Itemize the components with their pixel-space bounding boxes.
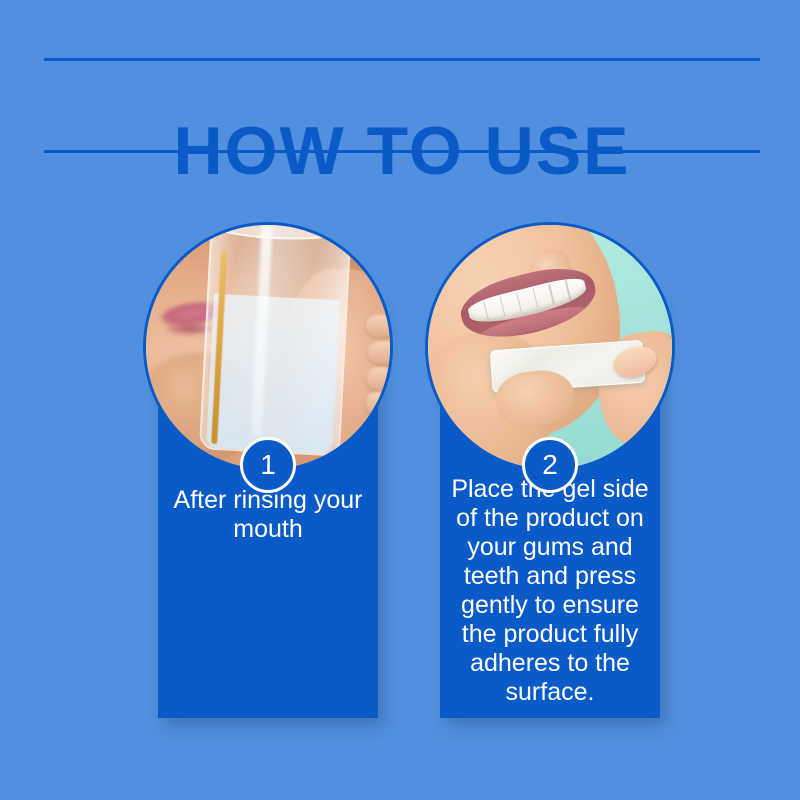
tooth-divider [515, 292, 521, 312]
step-1-number-badge: 1 [240, 437, 296, 493]
drinking-water-illustration [146, 225, 390, 469]
applying-strip-illustration [428, 225, 672, 469]
tooth-divider [548, 284, 554, 304]
step-2-text: Place the gel side of the product on you… [450, 475, 650, 707]
tooth-divider [499, 296, 505, 316]
step-2-number-badge: 2 [522, 437, 578, 493]
water-shape [206, 294, 340, 455]
step-card-1: 1 After rinsing your mouth [158, 300, 378, 718]
steps-container: 1 After rinsing your mouth [0, 0, 800, 800]
tooth-divider [564, 280, 570, 300]
finger-shape [368, 341, 393, 364]
finger-shape [366, 315, 393, 338]
step-2-photo [425, 222, 675, 472]
finger-shape [366, 392, 391, 415]
step-card-2: 2 Place the gel side of the product on y… [440, 300, 660, 718]
step-1-photo [143, 222, 393, 472]
step-1-text: After rinsing your mouth [168, 486, 368, 544]
water-glass-shape [198, 222, 351, 457]
finger-shape [367, 367, 393, 390]
tooth-divider [532, 288, 538, 308]
tooth-divider [483, 300, 489, 320]
